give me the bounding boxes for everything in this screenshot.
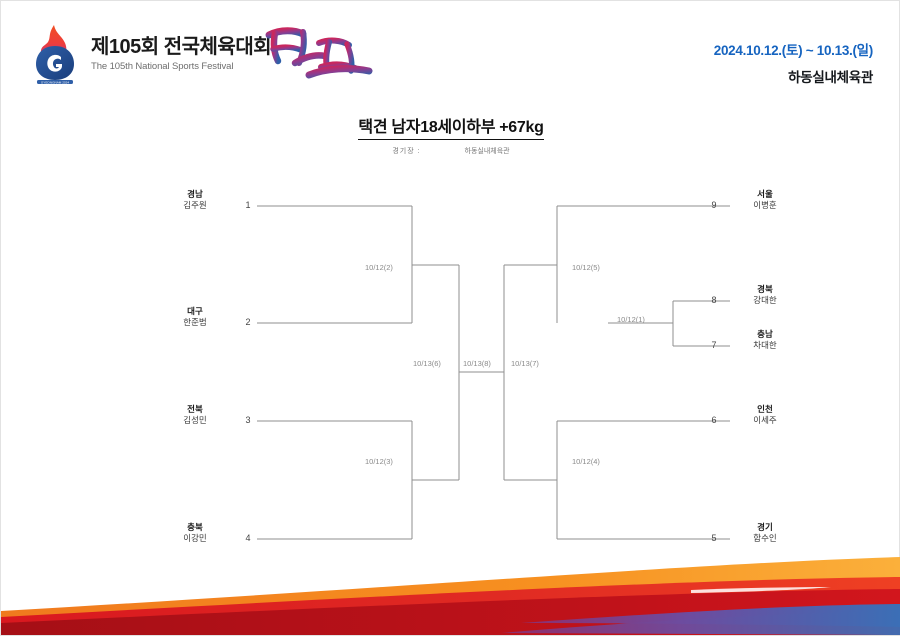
entry-player: 함수인 bbox=[717, 533, 813, 544]
entry-region: 대구 bbox=[147, 306, 243, 317]
tournament-bracket-page: GYEONGNAM 2024 제105회 전국체육대회 The 105th Na… bbox=[0, 0, 900, 636]
bracket-entry: 충북 이강민 bbox=[147, 522, 243, 544]
bracket-entry: 인천 이세주 bbox=[717, 404, 813, 426]
bracket-diagram: 경남 김주원 1 대구 한준범 2 전북 김성민 3 충북 이강민 4 서울 이… bbox=[1, 1, 900, 637]
bracket-entry: 충남 차대한 bbox=[717, 329, 813, 351]
entry-region: 충북 bbox=[147, 522, 243, 533]
entry-region: 경북 bbox=[717, 284, 813, 295]
bracket-entry: 대구 한준범 bbox=[147, 306, 243, 328]
seed-number: 6 bbox=[707, 415, 721, 425]
match-label: 10/12(4) bbox=[572, 457, 600, 466]
bracket-entry: 경남 김주원 bbox=[147, 189, 243, 211]
bracket-entry: 서울 이병훈 bbox=[717, 189, 813, 211]
entry-player: 이병훈 bbox=[717, 200, 813, 211]
footer-ribbon-graphic bbox=[1, 549, 900, 635]
entry-player: 한준범 bbox=[147, 317, 243, 328]
entry-player: 김성민 bbox=[147, 415, 243, 426]
seed-number: 2 bbox=[241, 317, 255, 327]
entry-region: 인천 bbox=[717, 404, 813, 415]
match-label: 10/12(5) bbox=[572, 263, 600, 272]
seed-number: 5 bbox=[707, 533, 721, 543]
bracket-entry: 경기 함수인 bbox=[717, 522, 813, 544]
seed-number: 7 bbox=[707, 340, 721, 350]
seed-number: 4 bbox=[241, 533, 255, 543]
entry-region: 경기 bbox=[717, 522, 813, 533]
match-label: 10/12(1) bbox=[617, 315, 645, 324]
entry-region: 서울 bbox=[717, 189, 813, 200]
bracket-entry: 전북 김성민 bbox=[147, 404, 243, 426]
entry-player: 차대한 bbox=[717, 340, 813, 351]
seed-number: 9 bbox=[707, 200, 721, 210]
seed-number: 1 bbox=[241, 200, 255, 210]
entry-player: 김주원 bbox=[147, 200, 243, 211]
entry-player: 이세주 bbox=[717, 415, 813, 426]
match-label: 10/13(6) bbox=[413, 359, 441, 368]
match-label: 10/12(3) bbox=[365, 457, 393, 466]
entry-region: 경남 bbox=[147, 189, 243, 200]
match-label: 10/13(7) bbox=[511, 359, 539, 368]
match-label: 10/13(8) bbox=[463, 359, 491, 368]
entry-region: 전북 bbox=[147, 404, 243, 415]
entry-player: 이강민 bbox=[147, 533, 243, 544]
seed-number: 8 bbox=[707, 295, 721, 305]
entry-region: 충남 bbox=[717, 329, 813, 340]
bracket-entry: 경북 강대한 bbox=[717, 284, 813, 306]
match-label: 10/12(2) bbox=[365, 263, 393, 272]
seed-number: 3 bbox=[241, 415, 255, 425]
entry-player: 강대한 bbox=[717, 295, 813, 306]
